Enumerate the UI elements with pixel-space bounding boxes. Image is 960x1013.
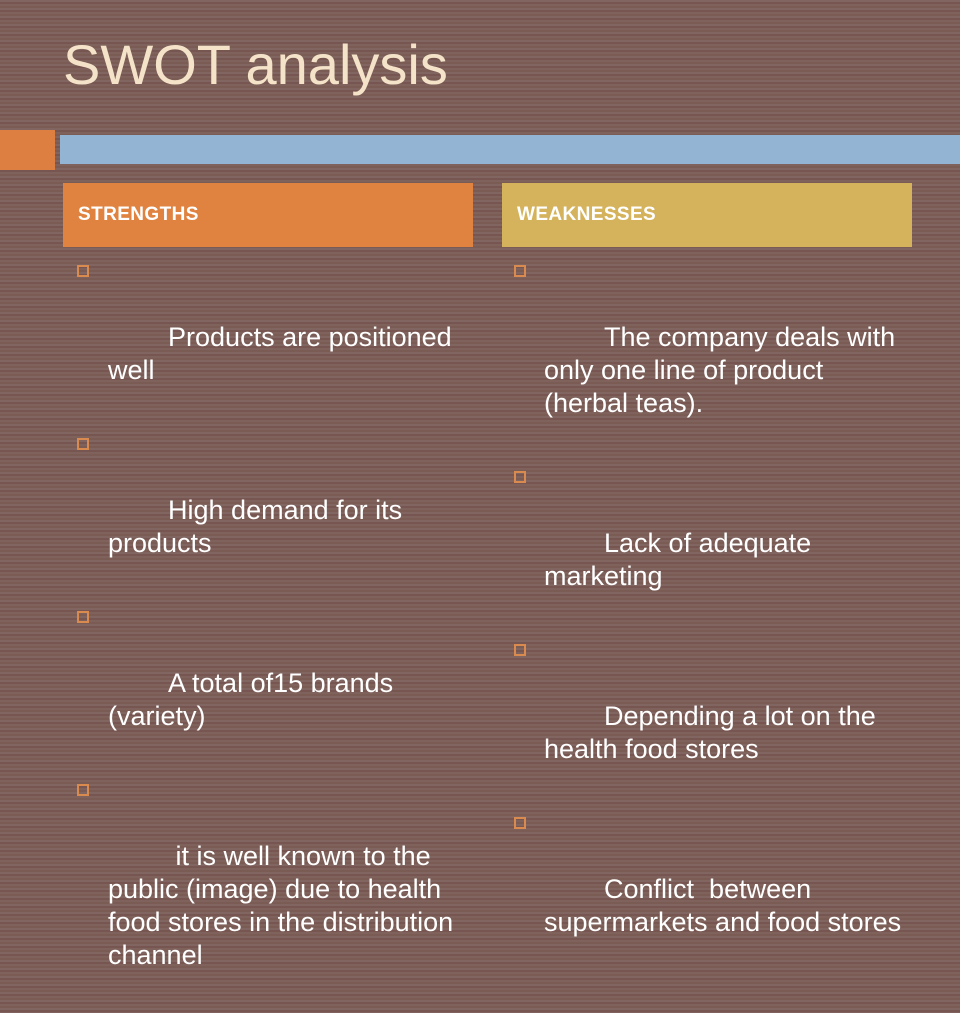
- quadrant-header-weaknesses: WEAKNESSES: [502, 183, 912, 247]
- list-item-text: it is well known to the public (image) d…: [108, 841, 461, 970]
- weaknesses-list: The company deals with only one line of …: [502, 255, 912, 972]
- square-bullet-icon: [514, 817, 526, 829]
- quadrant-header-label-strengths: STRENGTHS: [78, 204, 199, 226]
- quadrant-strengths: STRENGTHS Products are positioned well H…: [63, 183, 473, 1013]
- quadrant-header-label-weaknesses: WEAKNESSES: [517, 204, 656, 226]
- list-item-text: Products are positioned well: [108, 322, 459, 385]
- list-item-text: A total of15 brands (variety): [108, 668, 401, 731]
- quadrant-header-strengths: STRENGTHS: [63, 183, 473, 247]
- list-item-text: Conflict between supermarkets and food s…: [544, 874, 901, 937]
- divider: [0, 130, 960, 170]
- square-bullet-icon: [514, 471, 526, 483]
- list-item-text: Depending a lot on the health food store…: [544, 701, 883, 764]
- square-bullet-icon: [514, 265, 526, 277]
- divider-accent-block: [0, 130, 55, 170]
- list-item: Depending a lot on the health food store…: [502, 634, 912, 799]
- list-item-text: High demand for its products: [108, 495, 410, 558]
- quadrant-weaknesses: WEAKNESSES The company deals with only o…: [502, 183, 912, 980]
- list-item: Lack of adequate marketing: [502, 461, 912, 626]
- list-item-text: The company deals with only one line of …: [544, 322, 903, 418]
- list-item: it is well known to the public (image) d…: [63, 774, 473, 1005]
- list-item: High demand for its products: [63, 428, 473, 593]
- square-bullet-icon: [77, 438, 89, 450]
- list-item: Conflict between supermarkets and food s…: [502, 807, 912, 972]
- list-item: Products are positioned well: [63, 255, 473, 420]
- square-bullet-icon: [77, 784, 89, 796]
- square-bullet-icon: [77, 265, 89, 277]
- list-item-text: Lack of adequate marketing: [544, 528, 819, 591]
- list-item: A total of15 brands (variety): [63, 601, 473, 766]
- divider-bar: [60, 135, 960, 164]
- square-bullet-icon: [514, 644, 526, 656]
- square-bullet-icon: [77, 611, 89, 623]
- strengths-list: Products are positioned well High demand…: [63, 255, 473, 1005]
- list-item: The company deals with only one line of …: [502, 255, 912, 453]
- swot-quadrants: STRENGTHS Products are positioned well H…: [0, 183, 960, 683]
- page-title: SWOT analysis: [63, 33, 448, 97]
